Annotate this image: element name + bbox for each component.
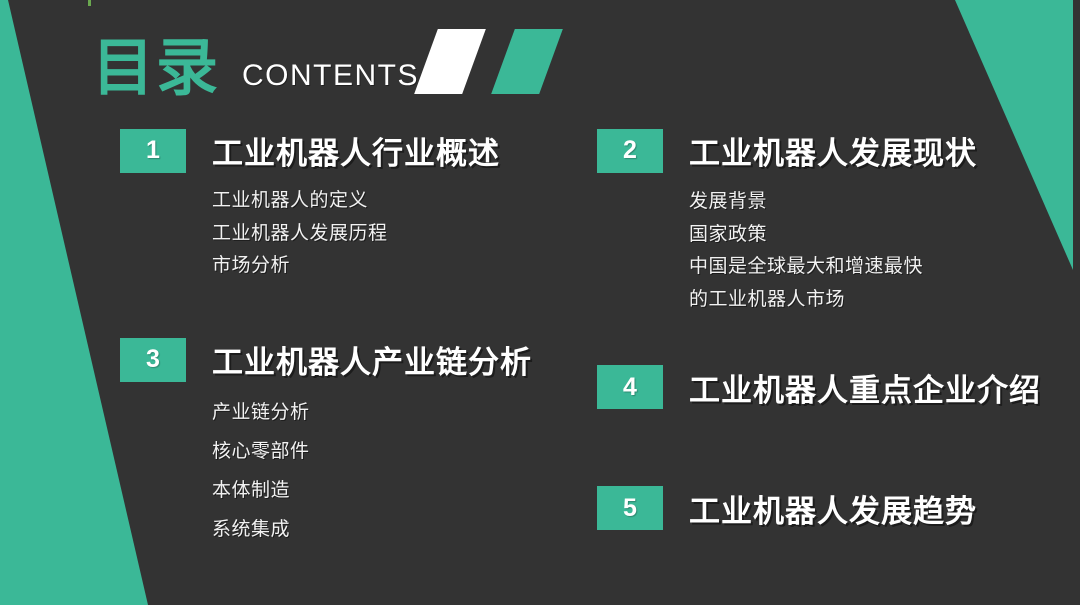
section-1-title[interactable]: 工业机器人行业概述 (212, 128, 500, 173)
section-item-4[interactable]: 4 工业机器人重点企业介绍 (597, 365, 1067, 410)
slide-contents-page: 目录 CONTENTS 1 工业机器人行业概述 工业机器人的定义 工业机器人发展… (0, 0, 1080, 605)
header-parallelogram-group (408, 29, 578, 94)
section-4-title[interactable]: 工业机器人重点企业介绍 (689, 365, 1041, 410)
list-item[interactable]: 核心零部件 (212, 433, 590, 472)
section-item-1[interactable]: 1 工业机器人行业概述 工业机器人的定义 工业机器人发展历程 市场分析 (120, 128, 590, 283)
list-item[interactable]: 的工业机器人市场 (689, 284, 1067, 317)
page-title-en: CONTENTS (242, 59, 419, 93)
page-header: 目录 CONTENTS (92, 22, 419, 100)
green-parallelogram-icon (491, 29, 563, 94)
section-2-title[interactable]: 工业机器人发展现状 (689, 128, 977, 173)
contents-column-left: 1 工业机器人行业概述 工业机器人的定义 工业机器人发展历程 市场分析 3 工业… (120, 128, 590, 550)
section-3-subitems: 产业链分析 核心零部件 本体制造 系统集成 (212, 394, 590, 550)
section-1-heading: 1 工业机器人行业概述 (120, 128, 590, 173)
section-2-number-badge: 2 (597, 129, 663, 173)
list-item[interactable]: 市场分析 (212, 250, 590, 283)
list-item[interactable]: 发展背景 (689, 186, 1067, 219)
list-item[interactable]: 产业链分析 (212, 394, 590, 433)
contents-column-right: 2 工业机器人发展现状 发展背景 国家政策 中国是全球最大和增速最快 的工业机器… (597, 128, 1067, 531)
section-1-number-badge: 1 (120, 129, 186, 173)
section-item-2[interactable]: 2 工业机器人发展现状 发展背景 国家政策 中国是全球最大和增速最快 的工业机器… (597, 128, 1067, 317)
list-item[interactable]: 本体制造 (212, 472, 590, 511)
section-2-heading: 2 工业机器人发展现状 (597, 128, 1067, 173)
section-item-3[interactable]: 3 工业机器人产业链分析 产业链分析 核心零部件 本体制造 系统集成 (120, 337, 590, 550)
section-3-number-badge: 3 (120, 338, 186, 382)
section-5-heading: 5 工业机器人发展趋势 (597, 486, 1067, 531)
list-item[interactable]: 中国是全球最大和增速最快 (689, 251, 1067, 284)
section-4-number-badge: 4 (597, 365, 663, 409)
section-item-5[interactable]: 5 工业机器人发展趋势 (597, 486, 1067, 531)
white-parallelogram-icon (414, 29, 486, 94)
list-item[interactable]: 工业机器人的定义 (212, 185, 590, 218)
list-item[interactable]: 国家政策 (689, 219, 1067, 252)
top-green-speck (88, 0, 91, 6)
section-5-number-badge: 5 (597, 486, 663, 530)
section-2-subitems: 发展背景 国家政策 中国是全球最大和增速最快 的工业机器人市场 (689, 186, 1067, 317)
list-item[interactable]: 工业机器人发展历程 (212, 218, 590, 251)
section-4-heading: 4 工业机器人重点企业介绍 (597, 365, 1067, 410)
list-item[interactable]: 系统集成 (212, 511, 590, 550)
page-title-cn: 目录 (92, 38, 220, 100)
section-1-subitems: 工业机器人的定义 工业机器人发展历程 市场分析 (212, 185, 590, 283)
section-5-title[interactable]: 工业机器人发展趋势 (689, 486, 977, 531)
section-3-heading: 3 工业机器人产业链分析 (120, 337, 590, 382)
section-3-title[interactable]: 工业机器人产业链分析 (212, 337, 532, 382)
